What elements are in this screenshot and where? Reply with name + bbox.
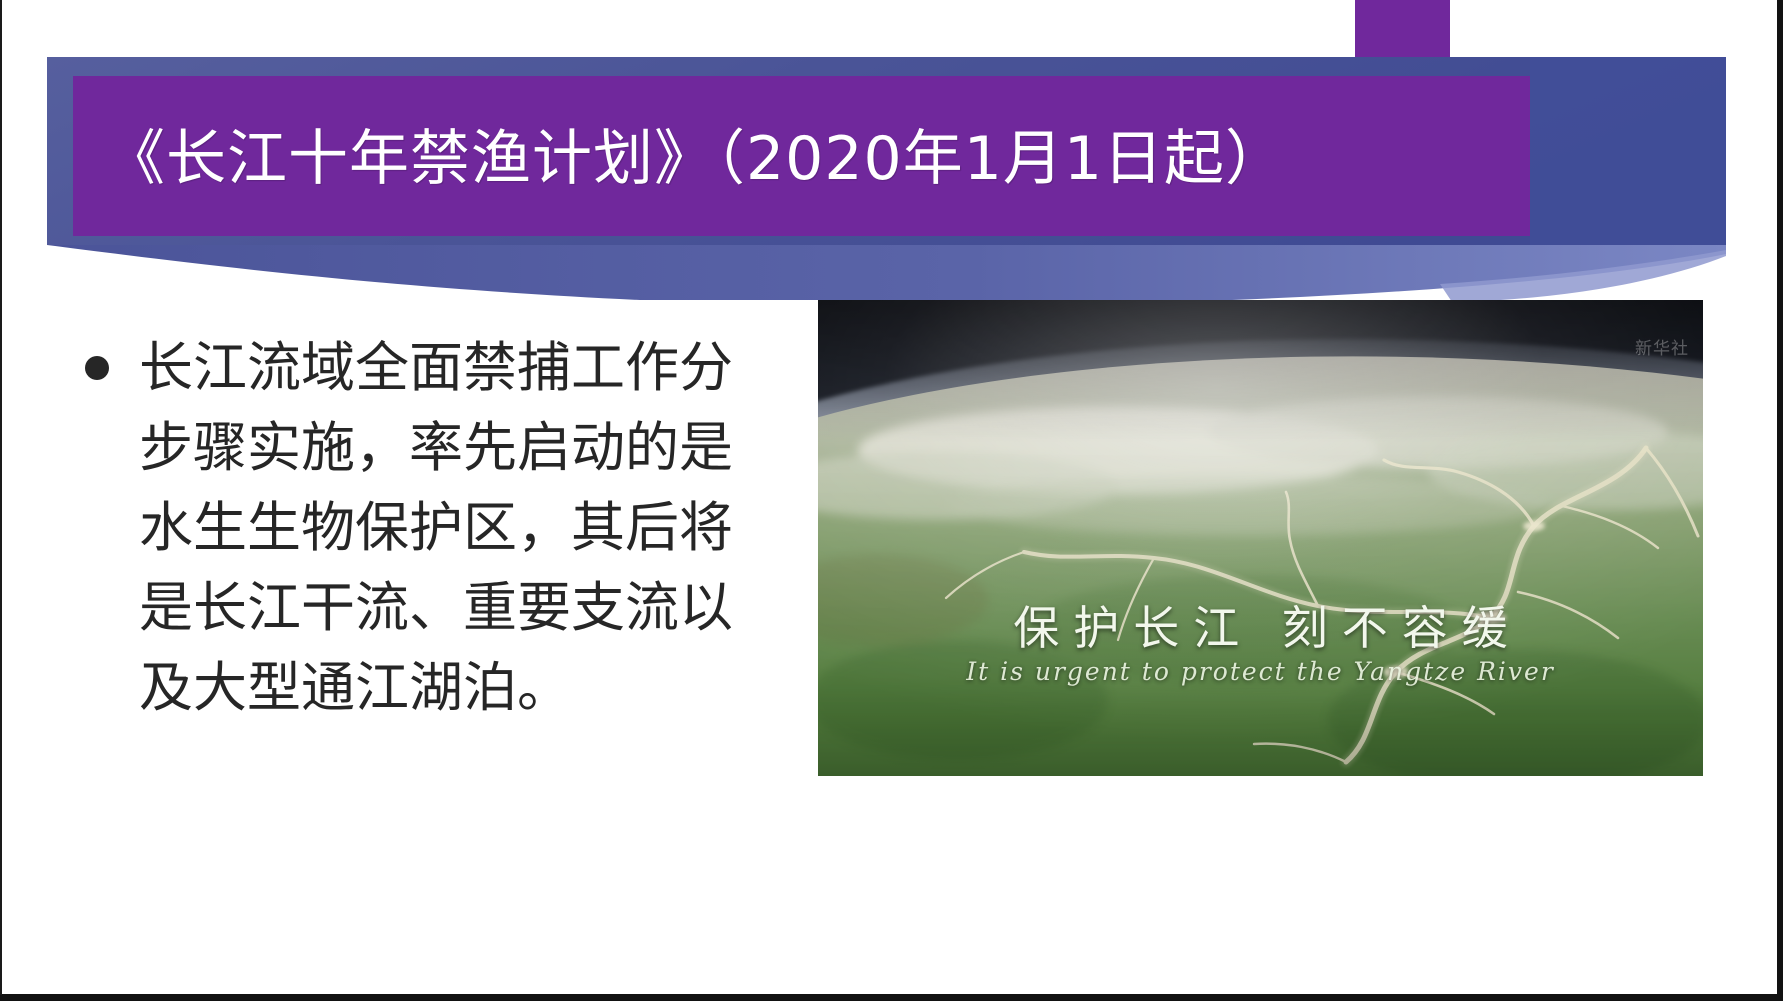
list-item: 长江流域全面禁捕工作分 步骤实施，率先启动的是 水生生物保护区，其后将 是长江干… [85,328,785,728]
slide-border-right [1777,0,1783,995]
photo-artwork [818,300,1703,776]
bullet-text-line: 长江流域全面禁捕工作分 [139,328,785,408]
photo-caption-chinese: 保护长江 刻不容缓 [818,592,1703,658]
bullet-text-line: 及大型通江湖泊。 [139,648,785,728]
yangtze-satellite-photo: 新华社 保护长江 刻不容缓 It is urgent to protect th… [818,300,1703,776]
bullet-dot-icon [85,356,109,380]
bullet-list: 长江流域全面禁捕工作分 步骤实施，率先启动的是 水生生物保护区，其后将 是长江干… [85,328,785,728]
slide-border-bottom [0,994,1783,1001]
bullet-text: 长江流域全面禁捕工作分 步骤实施，率先启动的是 水生生物保护区，其后将 是长江干… [139,328,785,728]
slide-border-left [0,0,2,995]
bullet-text-line: 是长江干流、重要支流以 [139,568,785,648]
bullet-text-line: 步骤实施，率先启动的是 [139,408,785,488]
bullet-text-line: 水生生物保护区，其后将 [139,488,785,568]
slide-content: 长江流域全面禁捕工作分 步骤实施，率先启动的是 水生生物保护区，其后将 是长江干… [0,300,1783,990]
banner-inner-fill-extension [1450,76,1530,236]
photo-caption-english: It is urgent to protect the Yangtze Rive… [818,657,1703,686]
title-banner: 《长江十年禁渔计划》（2020年1月1日起） [0,0,1783,300]
slide-title: 《长江十年禁渔计划》（2020年1月1日起） [105,101,1385,205]
banner-right-shade [1530,57,1726,245]
presentation-slide: 《长江十年禁渔计划》（2020年1月1日起） 长江流域全面禁捕工作分 步骤实施，… [0,0,1783,1001]
photo-watermark: 新华社 [1635,340,1689,358]
